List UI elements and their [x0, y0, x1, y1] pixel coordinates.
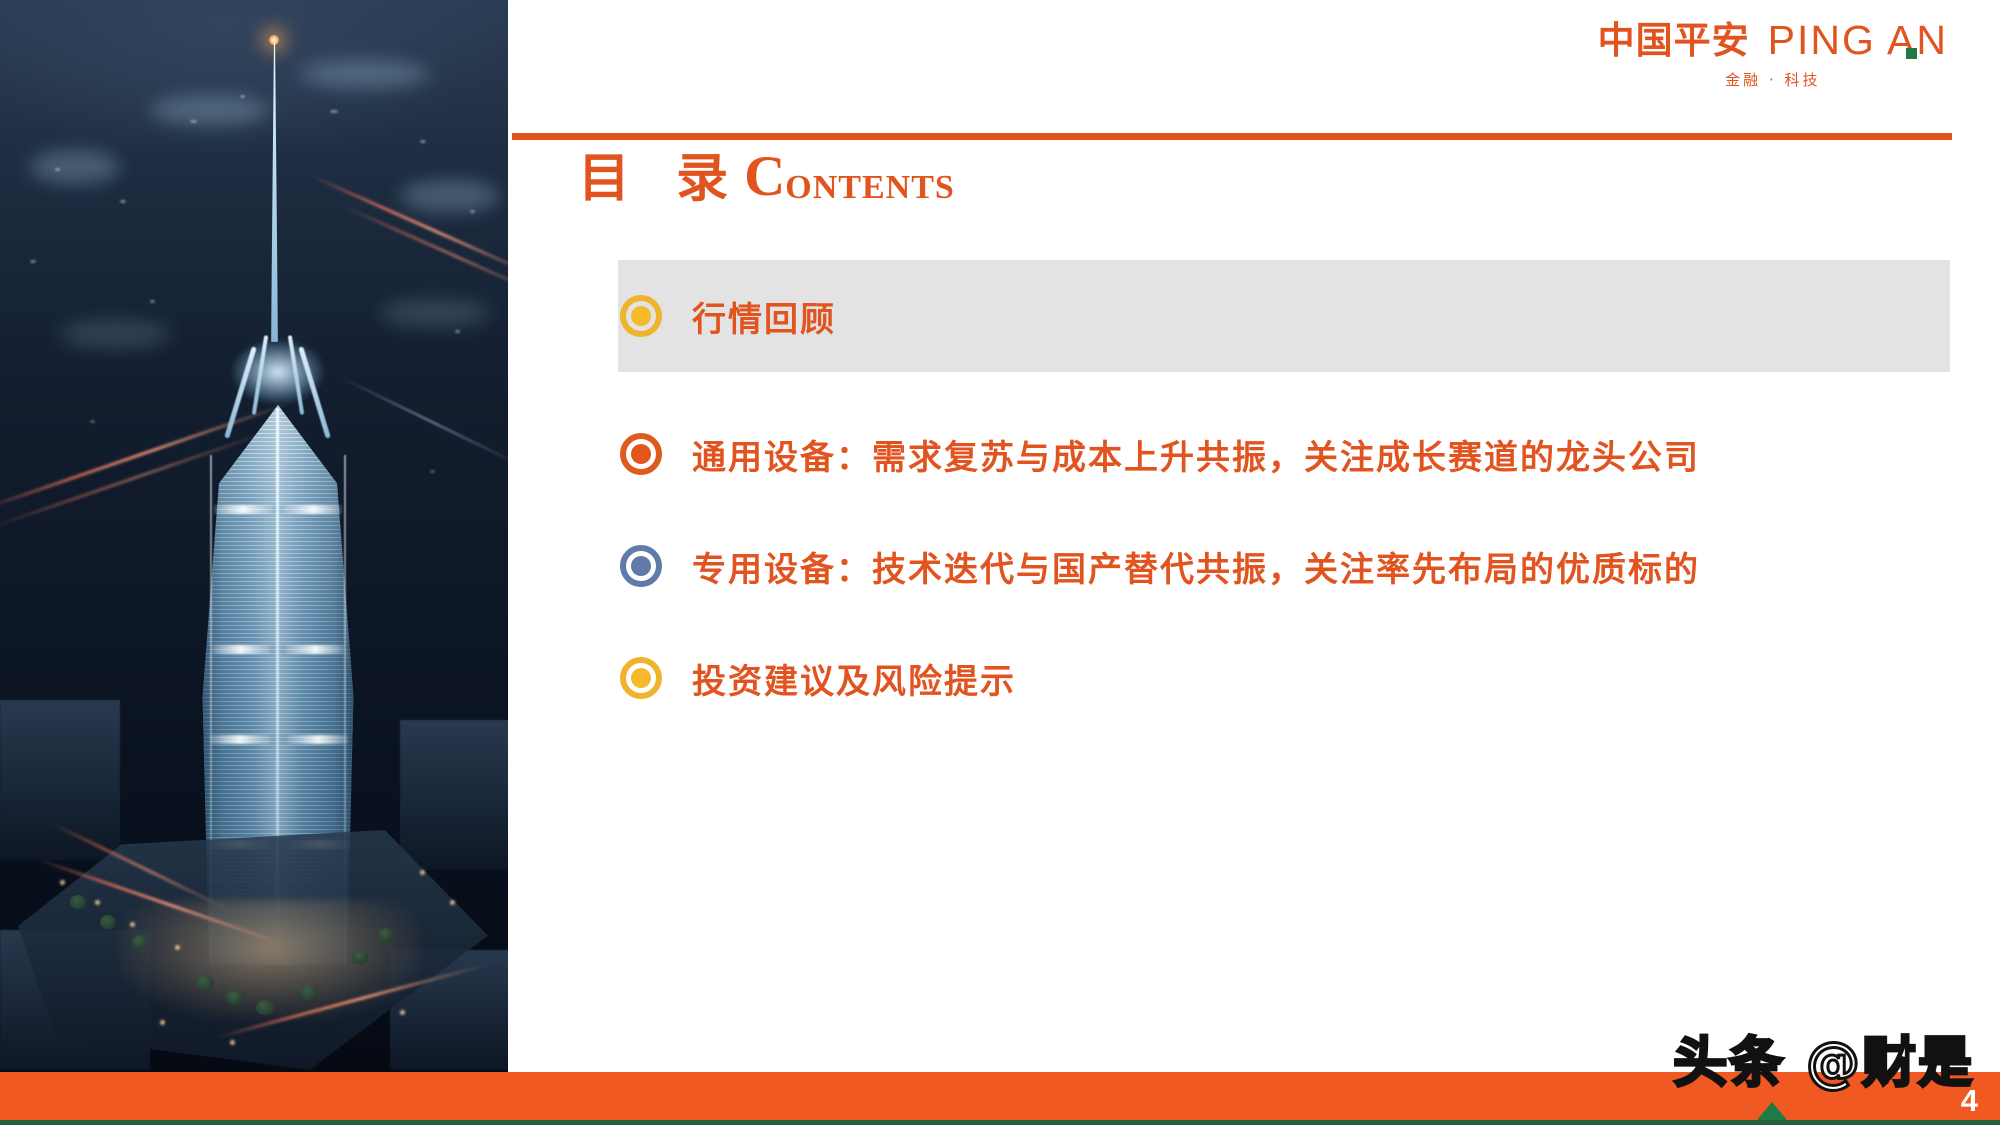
toc-item-4[interactable]: 投资建议及风险提示 — [508, 622, 2000, 734]
logo-green-square-icon — [1906, 48, 1917, 59]
city-glow — [400, 180, 500, 212]
toc-item-label: 专用设备：技术迭代与国产替代共振，关注率先布局的优质标的 — [692, 542, 1700, 591]
page-title-chinese: 目 录 — [578, 153, 742, 205]
street-light — [230, 1040, 235, 1045]
plaza-tree — [378, 928, 394, 942]
toc-item-label: 投资建议及风险提示 — [692, 654, 1016, 703]
toc-bullet-icon — [620, 545, 662, 587]
pingan-logo: 中国平安 PING AN 金融 · 科技 — [1598, 20, 1948, 90]
logo-english-text: PING AN — [1768, 17, 1948, 63]
street-light — [420, 870, 425, 875]
city-light — [240, 95, 245, 98]
plaza-tree — [132, 935, 148, 949]
slide-content: 中国平安 PING AN 金融 · 科技 目 录 C ONTENTS 行情回顾 — [508, 0, 2000, 1072]
plaza-tree — [352, 950, 368, 964]
toc-item-label: 行情回顾 — [692, 292, 836, 341]
toc-list: 行情回顾 通用设备：需求复苏与成本上升共振，关注成长赛道的龙头公司 专用设备：技… — [508, 260, 2000, 734]
street-light — [175, 945, 180, 950]
city-light — [55, 168, 60, 171]
city-glow — [30, 150, 120, 184]
city-light — [30, 260, 36, 263]
toc-spacer — [508, 372, 2000, 398]
plaza-tree — [196, 975, 214, 990]
street-light — [160, 1020, 165, 1025]
page-title: 目 录 C ONTENTS — [578, 148, 955, 205]
city-light — [470, 210, 475, 213]
logo-tagline: 金融 · 科技 — [1598, 69, 1948, 90]
facade-light-band — [286, 645, 344, 654]
facade-light-band — [212, 645, 270, 654]
toc-bullet-icon — [620, 657, 662, 699]
adjacent-building — [400, 720, 508, 870]
city-glow — [150, 95, 270, 125]
footer-green-line — [0, 1120, 2000, 1125]
street-light — [60, 880, 65, 885]
slide-root: 中国平安 PING AN 金融 · 科技 目 录 C ONTENTS 行情回顾 — [0, 0, 2000, 1125]
plaza-tree — [256, 1000, 274, 1015]
toc-bullet-icon — [620, 295, 662, 337]
city-light — [150, 300, 155, 303]
city-glow — [380, 300, 490, 326]
city-glow — [60, 320, 170, 348]
city-light — [190, 120, 197, 123]
plaza-tree — [226, 990, 244, 1005]
page-number: 4 — [1961, 1083, 1978, 1119]
page-title-c-initial: C — [744, 148, 785, 205]
header-divider-rule — [512, 133, 1952, 140]
city-glow — [300, 60, 430, 88]
city-light — [455, 330, 460, 333]
logo-english-name: PING AN — [1768, 20, 1948, 61]
logo-chinese-name: 中国平安 — [1598, 22, 1750, 59]
footer-bar — [0, 1072, 2000, 1125]
logo-wordmark: 中国平安 PING AN — [1598, 20, 1948, 61]
facade-light-band — [288, 735, 348, 744]
street-light — [130, 922, 135, 927]
city-light — [90, 420, 95, 423]
page-title-contents: ONTENTS — [785, 171, 955, 205]
city-light — [330, 110, 338, 113]
city-light — [120, 200, 126, 203]
toc-item-2[interactable]: 通用设备：需求复苏与成本上升共振，关注成长赛道的龙头公司 — [508, 398, 2000, 510]
toc-item-3[interactable]: 专用设备：技术迭代与国产替代共振，关注率先布局的优质标的 — [508, 510, 2000, 622]
city-light — [430, 470, 435, 473]
hero-photo-panel — [0, 0, 508, 1072]
toc-bullet-icon — [620, 433, 662, 475]
facade-light-band — [210, 735, 270, 744]
toc-item-label: 通用设备：需求复苏与成本上升共振，关注成长赛道的龙头公司 — [692, 430, 1700, 479]
street-light — [400, 1010, 405, 1015]
street-light — [95, 900, 100, 905]
facade-light-band — [214, 505, 272, 514]
facade-light-band — [284, 505, 342, 514]
plaza-tree — [70, 895, 86, 909]
toc-item-1[interactable]: 行情回顾 — [618, 260, 1950, 372]
plaza-tree — [300, 985, 318, 1000]
street-light — [450, 900, 455, 905]
city-light — [420, 140, 426, 143]
adjacent-building — [0, 700, 120, 860]
plaza-tree — [100, 915, 116, 929]
